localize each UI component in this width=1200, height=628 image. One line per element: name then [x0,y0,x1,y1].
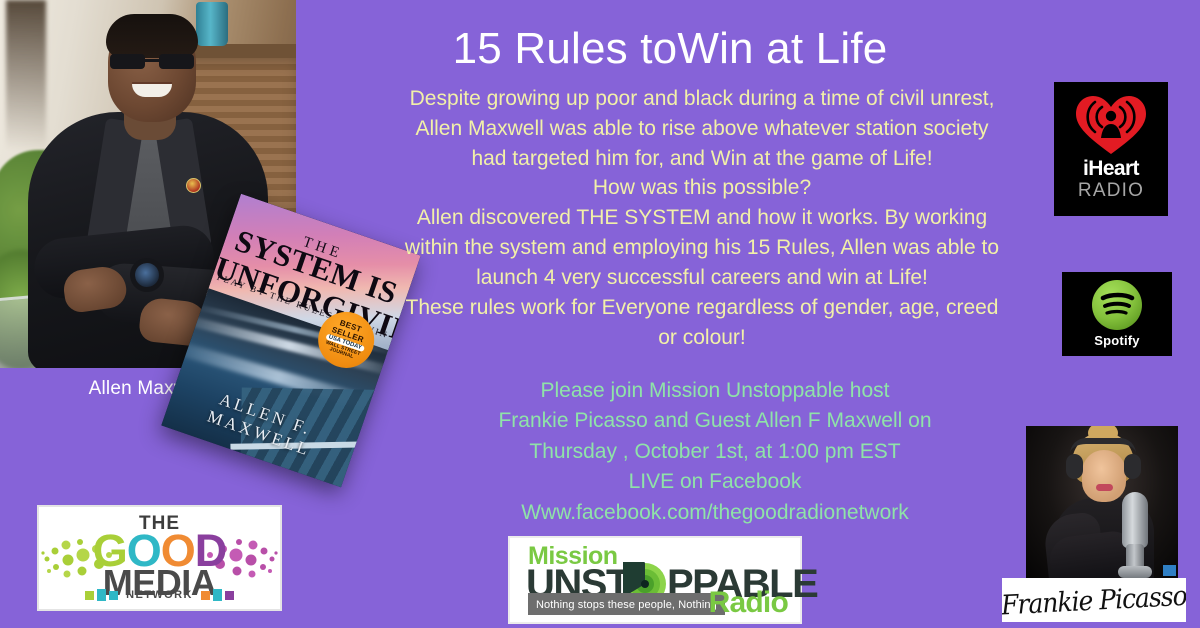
frankie-signature-box: Frankie Picasso [1002,578,1186,622]
network-square-4 [201,591,210,600]
photo-lapel-pin [186,178,201,193]
fp-lips [1096,484,1113,491]
promo-graphic: Allen Maxwell THE SYSTEM ISUNFORGIVING P… [0,0,1200,628]
mission-tagline-bar: Nothing stops these people, Nothing [528,593,725,615]
iheart-heart-icon [1074,94,1148,156]
host-photo-frankie-picasso [1026,426,1178,578]
good-media-network-row: NETWORK [39,589,280,601]
iheart-wordmark: iHeart [1054,158,1168,179]
microphone-icon [1122,492,1148,548]
event-details: Please join Mission Unstoppable hostFran… [430,376,1000,528]
good-media-network-word: NETWORK [126,589,193,601]
body-paragraph: Despite growing up poor and black during… [402,84,1002,352]
spotify-icon [1091,279,1143,331]
frankie-signature: Frankie Picasso [1002,580,1186,621]
page-title: 15 Rules toWin at Life [300,24,1040,74]
fp-headphone-cup-left [1066,454,1083,479]
fp-corner-tag [1163,565,1176,576]
fp-headphone-cup-right [1124,454,1141,479]
fp-face [1082,450,1126,502]
mission-radio-word: Radio [709,586,788,620]
network-square-3 [109,591,118,600]
network-square-6 [225,591,234,600]
mission-unstoppable-radio-logo[interactable]: Mission UNST PPABLE Nothing stops these … [508,536,802,624]
iheart-radio-logo[interactable]: iHeart RADIO [1054,82,1168,216]
network-square-2 [97,589,106,601]
photo-hair [106,14,198,58]
network-square-1 [85,591,94,600]
network-square-5 [213,589,222,601]
iheart-radio-word: RADIO [1054,181,1168,200]
fp-mic-base [1118,566,1152,578]
mission-tagline: Nothing stops these people, Nothing [536,599,717,611]
photo-glasses-bridge [145,59,159,62]
spotify-logo[interactable]: Spotify [1062,272,1172,356]
good-media-network-logo[interactable]: THE GOOD MEDIA NETWORK [37,505,282,611]
photo-branch [6,0,46,150]
headphones-icon [1070,438,1136,454]
spotify-wordmark: Spotify [1062,333,1172,348]
photo-vase [196,2,228,46]
